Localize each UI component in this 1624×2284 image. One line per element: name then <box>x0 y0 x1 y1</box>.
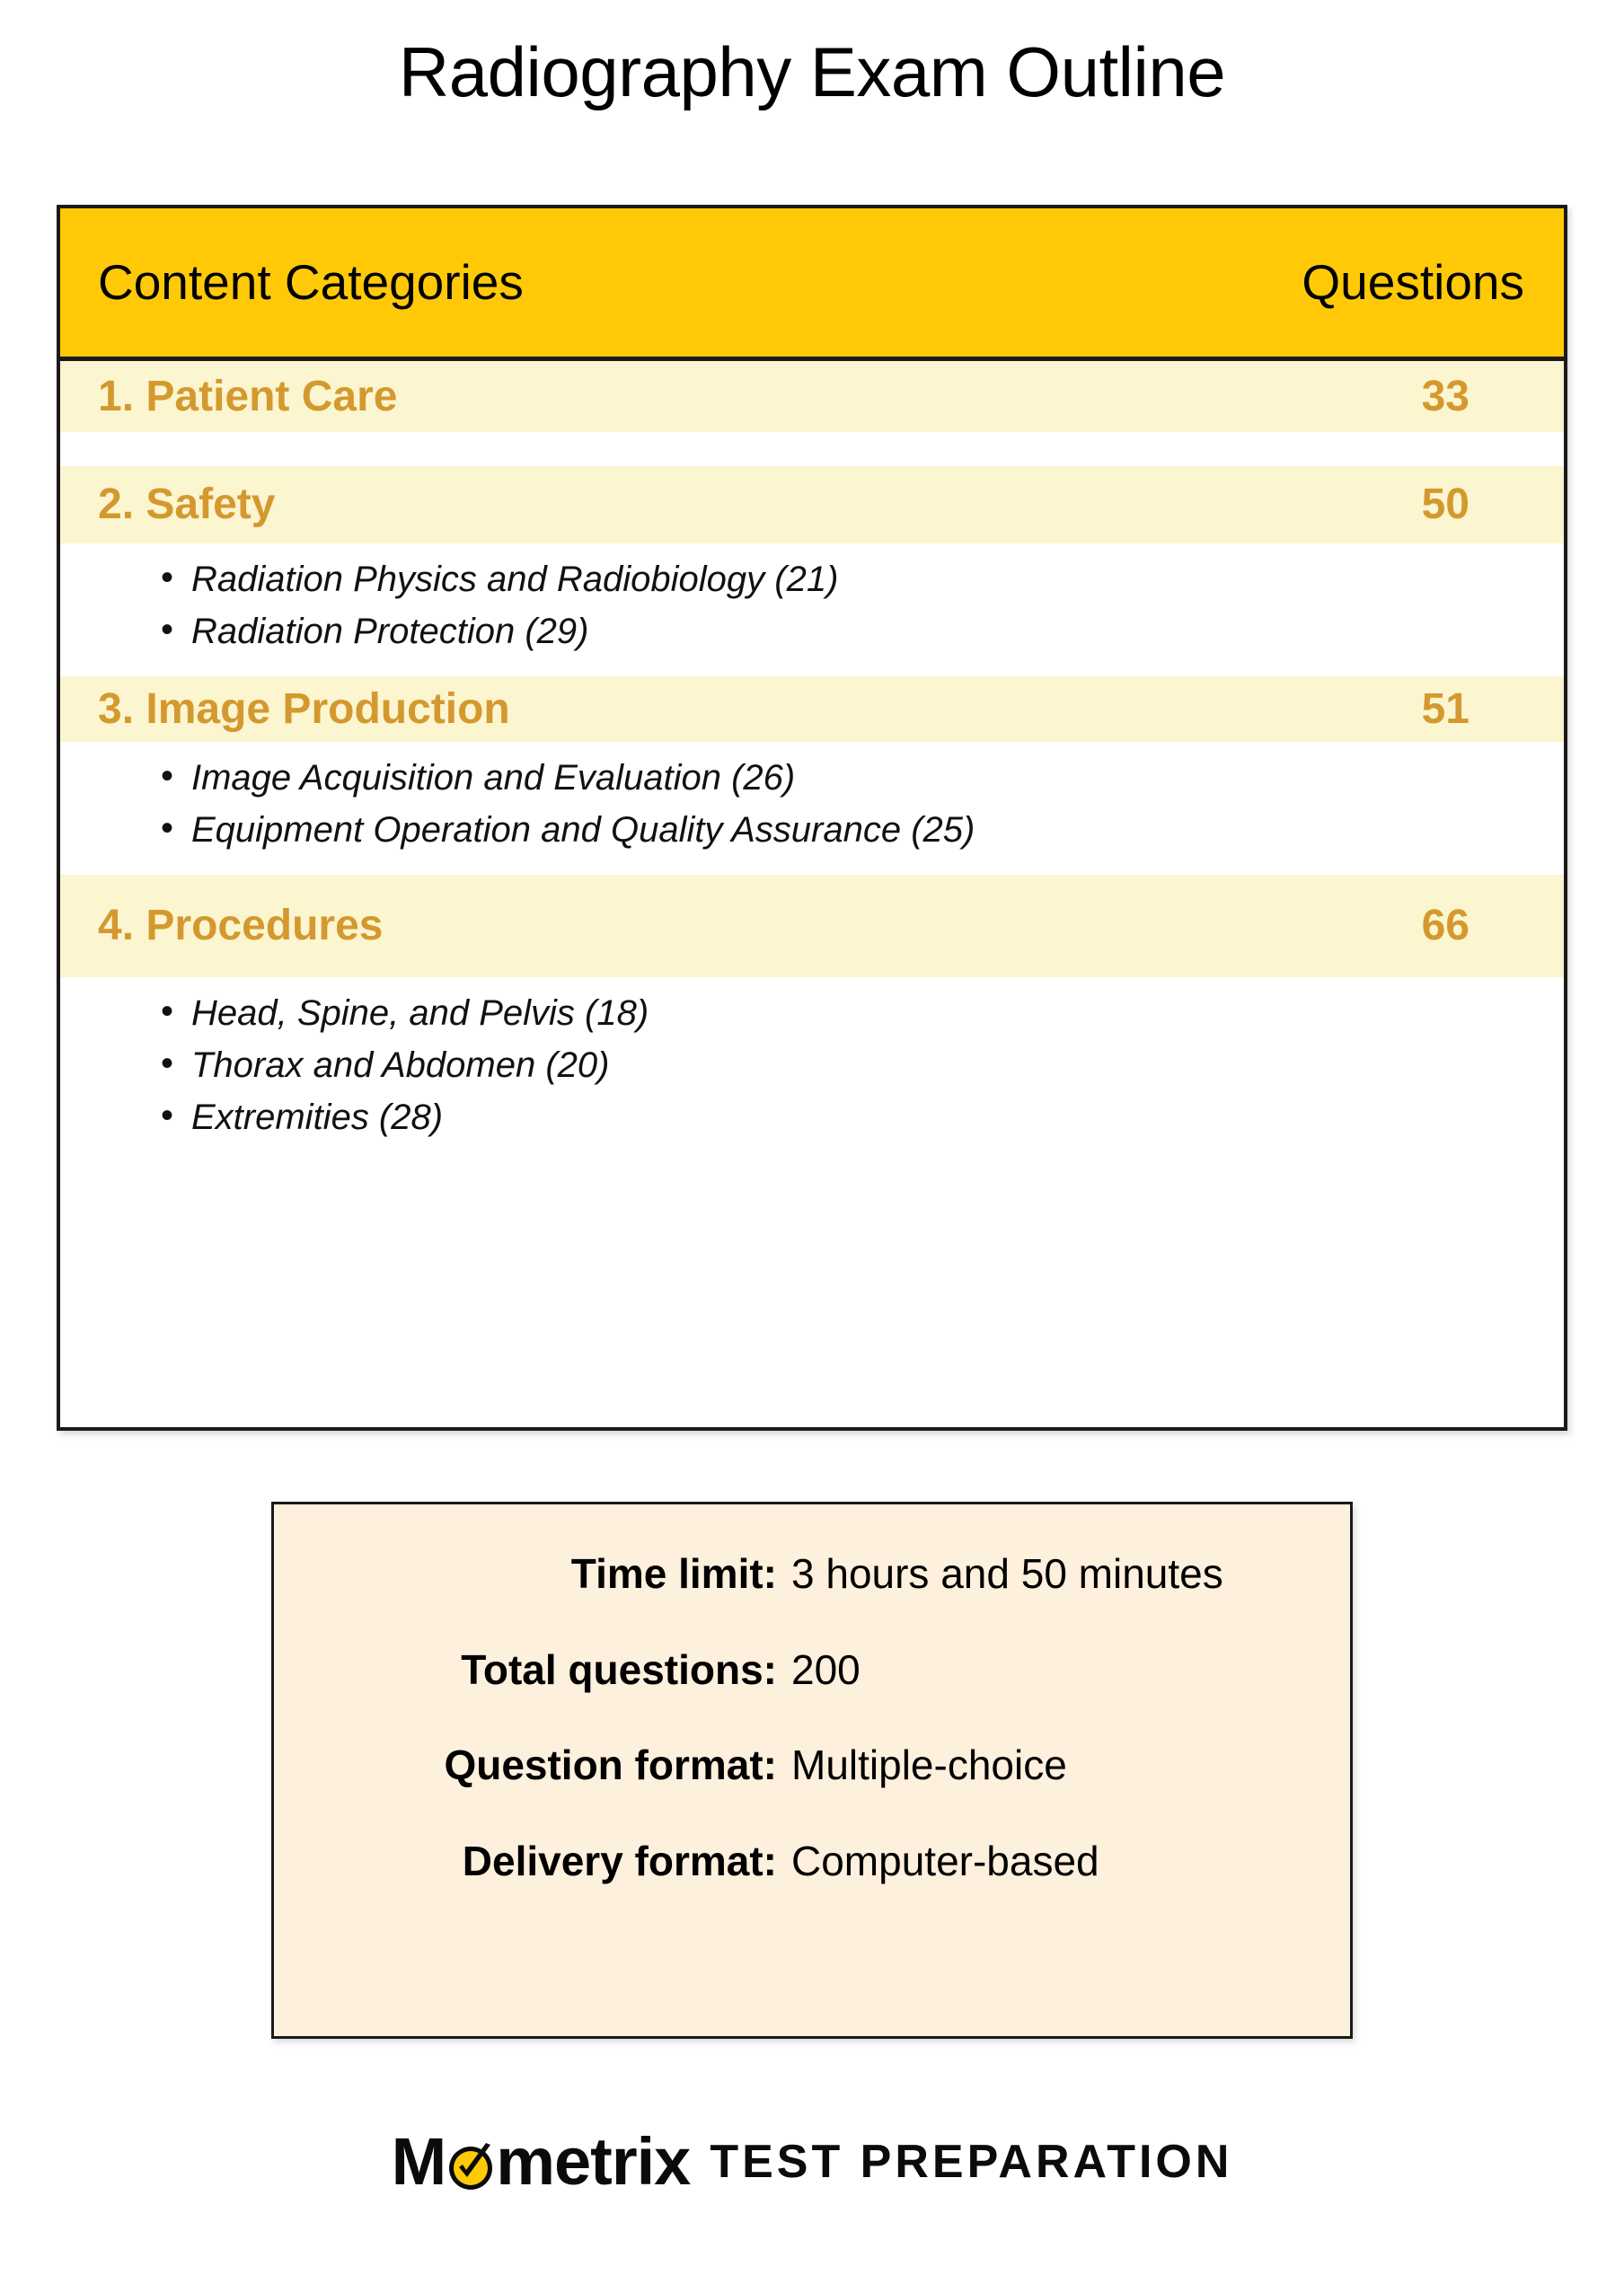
table-row: 4. Procedures 66 <box>60 875 1564 977</box>
detail-value: 3 hours and 50 minutes <box>791 1551 1294 1597</box>
brand-logo: M metrix TEST PREPARATION <box>0 2129 1624 2195</box>
detail-value: Multiple-choice <box>791 1742 1294 1788</box>
check-in-circle-icon <box>446 2142 495 2191</box>
brand-tagline: TEST PREPARATION <box>710 2138 1232 2185</box>
detail-label: Question format: <box>274 1742 791 1788</box>
list-item: • Thorax and Abdomen (20) <box>157 1045 1564 1085</box>
exam-details-box: Time limit: 3 hours and 50 minutes Total… <box>271 1502 1353 2039</box>
table-header-row: Content Categories Questions <box>60 208 1564 361</box>
bullet-icon: • <box>161 1044 173 1083</box>
list-item-label: Radiation Physics and Radiobiology (21) <box>191 560 838 599</box>
list-item: • Extremities (28) <box>157 1098 1564 1137</box>
category-question-count: 51 <box>1422 688 1470 731</box>
detail-label: Delivery format: <box>274 1839 791 1884</box>
category-name: 2. Safety <box>98 483 1422 526</box>
detail-label: Time limit: <box>274 1551 791 1597</box>
detail-value: Computer-based <box>791 1839 1294 1884</box>
subitem-list: • Image Acquisition and Evaluation (26) … <box>60 742 1564 875</box>
bullet-icon: • <box>161 610 173 649</box>
detail-row-time-limit: Time limit: 3 hours and 50 minutes <box>274 1551 1294 1597</box>
detail-value: 200 <box>791 1647 1294 1693</box>
category-name: 3. Image Production <box>98 688 1422 731</box>
detail-row-delivery-format: Delivery format: Computer-based <box>274 1839 1294 1884</box>
category-name: 4. Procedures <box>98 904 1422 948</box>
list-item: • Equipment Operation and Quality Assura… <box>157 810 1564 850</box>
subitem-list <box>60 432 1564 466</box>
bullet-icon: • <box>161 808 173 848</box>
category-question-count: 66 <box>1422 904 1470 948</box>
list-item: • Radiation Physics and Radiobiology (21… <box>157 560 1564 599</box>
list-item: • Head, Spine, and Pelvis (18) <box>157 993 1564 1033</box>
detail-row-question-format: Question format: Multiple-choice <box>274 1742 1294 1788</box>
column-header-questions: Questions <box>1302 258 1524 307</box>
list-item-label: Extremities (28) <box>191 1098 443 1137</box>
table-row: 2. Safety 50 <box>60 466 1564 543</box>
list-item-label: Radiation Protection (29) <box>191 612 588 651</box>
detail-row-total-questions: Total questions: 200 <box>274 1647 1294 1693</box>
list-item-label: Head, Spine, and Pelvis (18) <box>191 993 649 1033</box>
bullet-icon: • <box>161 1096 173 1135</box>
brand-wordmark: M metrix <box>392 2129 691 2195</box>
exam-outline-table: Content Categories Questions 1. Patient … <box>57 205 1567 1431</box>
list-item-label: Equipment Operation and Quality Assuranc… <box>191 810 975 850</box>
detail-label: Total questions: <box>274 1647 791 1693</box>
bullet-icon: • <box>161 558 173 597</box>
category-question-count: 50 <box>1422 483 1470 526</box>
bullet-icon: • <box>161 756 173 796</box>
brand-name-lead: M <box>392 2129 446 2195</box>
list-item: • Radiation Protection (29) <box>157 612 1564 651</box>
list-item-label: Thorax and Abdomen (20) <box>191 1045 609 1085</box>
category-name: 1. Patient Care <box>98 375 1422 419</box>
list-item-label: Image Acquisition and Evaluation (26) <box>191 758 795 798</box>
subitem-list: • Head, Spine, and Pelvis (18) • Thorax … <box>60 977 1564 1171</box>
bullet-icon: • <box>161 992 173 1031</box>
category-question-count: 33 <box>1422 375 1470 419</box>
page-title: Radiography Exam Outline <box>0 32 1624 113</box>
subitem-list: • Radiation Physics and Radiobiology (21… <box>60 543 1564 676</box>
column-header-content-categories: Content Categories <box>98 258 1302 307</box>
brand-name-tail: metrix <box>496 2129 690 2195</box>
table-row: 1. Patient Care 33 <box>60 361 1564 432</box>
table-row: 3. Image Production 51 <box>60 676 1564 742</box>
list-item: • Image Acquisition and Evaluation (26) <box>157 758 1564 798</box>
